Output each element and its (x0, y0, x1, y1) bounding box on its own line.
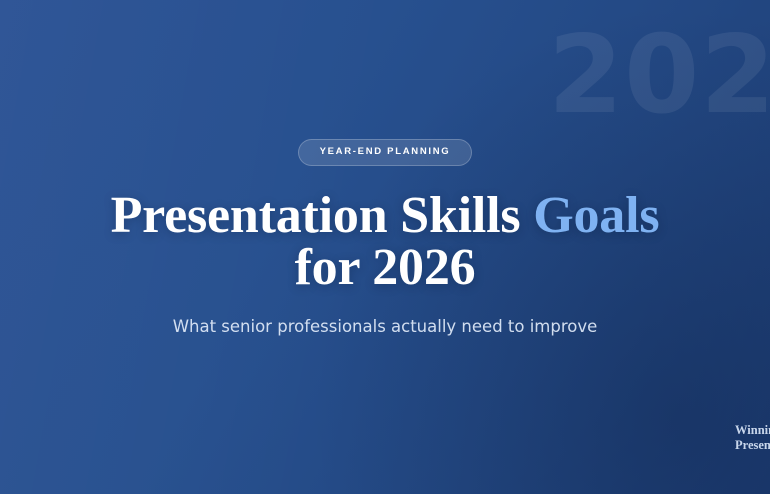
page-title-second-line: for 2026 (295, 239, 476, 296)
brand-logo: Winning Presentations (735, 423, 770, 453)
title-slide: 2026 YEAR-END PLANNING Presentation Skil… (0, 0, 770, 494)
page-subtitle: What senior professionals actually need … (173, 316, 598, 337)
page-title-accent-word: Goals (533, 187, 659, 244)
eyebrow-badge: YEAR-END PLANNING (298, 139, 473, 166)
slide-content: YEAR-END PLANNING Presentation Skills Go… (0, 0, 770, 494)
page-title-lead: Presentation Skills (111, 187, 534, 244)
brand-logo-line-2: Presentations (735, 438, 770, 453)
page-title: Presentation Skills Goals for 2026 (111, 190, 660, 294)
brand-logo-line-1: Winning (735, 423, 770, 438)
